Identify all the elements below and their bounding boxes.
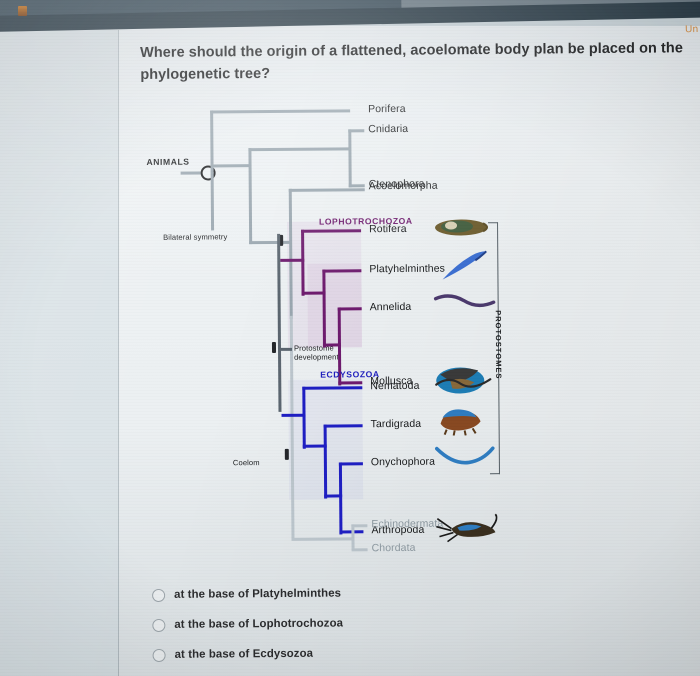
radio-button-icon-2[interactable] (152, 618, 165, 631)
branch-acoelomorpha (289, 188, 365, 192)
taxon-label-chordata: Chordata (372, 542, 416, 554)
radio-button-icon-1[interactable] (152, 588, 165, 601)
branch-lopho-node2-vertical (322, 270, 326, 348)
animals-root-label: ANIMALS (146, 157, 189, 167)
branch-protostome-trunk-upper (277, 234, 281, 350)
lophotrochozoa-clade-shading-inner (307, 263, 362, 347)
branch-root-vertical (210, 110, 214, 230)
branch-cnidaria-ctenophora-vertical (348, 129, 351, 187)
page-content-divider (118, 30, 119, 676)
taxon-label-tardigrada: Tardigrada (371, 418, 422, 430)
answer-option-2-label: at the base of Lophotrochozoa (174, 618, 343, 631)
answer-option-3-label: at the base of Ecdysozoa (175, 648, 314, 661)
branch-platyhelminthes (322, 269, 361, 272)
branch-ecdy-node3-vertical (339, 462, 343, 534)
branch-tardigrada (324, 424, 363, 427)
branch-ecdy-node2-vertical (324, 425, 328, 499)
arthropod-icon (433, 510, 497, 543)
question-stem: Where should the origin of a flattened, … (140, 37, 685, 87)
taxon-label-platyhelminthes: Platyhelminthes (369, 263, 445, 276)
branch-nematoda (302, 386, 362, 389)
branch-chordata (352, 548, 368, 551)
tardigrade-icon (434, 405, 488, 435)
answer-option-2[interactable]: at the base of Lophotrochozoa (152, 607, 572, 640)
branch-node2-stem (211, 164, 251, 167)
branch-echinodermata (351, 524, 367, 527)
answer-options-list: at the base of Platyhelminthes at the ba… (152, 577, 573, 670)
screenshot-photo: Un Where should the origin of a flattene… (0, 0, 700, 676)
state-label-bilateral-symmetry: Bilateral symmetry (163, 232, 227, 242)
state-bar-coelom (285, 449, 289, 460)
branch-cnidaria-ctenophora-stem (248, 147, 350, 151)
branch-rotifera (301, 229, 361, 232)
onychophoran-icon (435, 444, 495, 466)
answer-option-1[interactable]: at the base of Platyhelminthes (152, 577, 572, 610)
state-label-protostome-development-line2: development (294, 352, 339, 361)
taxon-label-cnidaria: Cnidaria (368, 123, 408, 135)
radio-button-icon-3[interactable] (153, 648, 166, 661)
branch-lophotrochozoa-vertical (301, 230, 305, 296)
branch-mollusca (338, 381, 362, 384)
state-label-coelom: Coelom (233, 458, 260, 467)
branch-deuterostome-vertical (351, 524, 354, 550)
answer-option-3[interactable]: at the base of Ecdysozoa (152, 637, 572, 670)
taxon-label-porifera: Porifera (368, 103, 406, 115)
protostomes-label: PROTOSTOMES (494, 310, 504, 379)
branch-node3-stem (249, 241, 291, 244)
browser-corner-text: Un (685, 24, 698, 35)
branch-porifera (210, 109, 350, 113)
site-favicon-icon (18, 6, 27, 16)
branch-root-stub (181, 171, 201, 174)
branch-node2-vertical (248, 148, 252, 244)
nematode-icon (434, 374, 492, 392)
flatworm-icon (436, 248, 492, 282)
branch-deuterostome-stem (291, 537, 353, 540)
branch-ecdysozoa-vertical (302, 387, 305, 449)
state-bar-protostome-development (272, 342, 276, 353)
branch-annelida (338, 307, 362, 310)
branch-node3-vertical (289, 189, 293, 319)
taxon-label-acoelomorpha-dup: Acoelomorpha (369, 180, 438, 193)
branch-ctenophora (349, 184, 365, 187)
taxon-label-rotifera: Rotifera (369, 223, 407, 235)
rotifer-icon (431, 216, 491, 238)
annelid-icon (434, 292, 496, 312)
phylogenetic-tree-figure: ANIMALS Bilateral symmetry Protostome de… (140, 91, 664, 565)
branch-protostome-trunk-lower (278, 348, 282, 412)
taxon-label-nematoda: Nematoda (370, 380, 419, 392)
answer-option-1-label: at the base of Platyhelminthes (174, 588, 341, 601)
taxon-label-onychophora: Onychophora (371, 456, 435, 469)
branch-cnidaria (348, 129, 364, 132)
taxon-label-annelida: Annelida (370, 301, 412, 313)
branch-onychophora (339, 462, 363, 465)
page-left-gutter (0, 30, 118, 676)
